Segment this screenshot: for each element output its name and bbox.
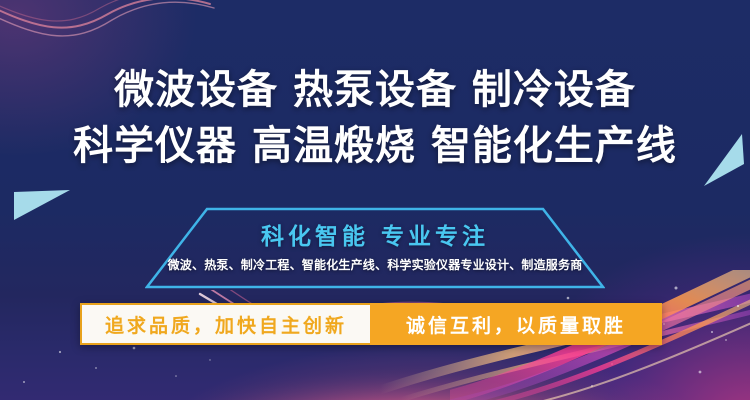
tagline-badge: 科化智能 专业专注 微波、热泵、制冷工程、智能化生产线、科学实验仪器专业设计、制… [145,207,605,289]
slogan-quality: 追求品质，加快自主创新 [80,303,370,345]
tagline-description: 微波、热泵、制冷工程、智能化生产线、科学实验仪器专业设计、制造服务商 [145,256,605,273]
promo-banner: 微波设备 热泵设备 制冷设备 科学仪器 高温煅烧 智能化生产线 科化智能 专业专… [0,0,750,400]
slogan-integrity: 诚信互利，以质量取胜 [370,303,662,345]
headline: 微波设备 热泵设备 制冷设备 科学仪器 高温煅烧 智能化生产线 [0,62,750,174]
triangle-right-icon [14,182,70,220]
headline-line-1: 微波设备 热泵设备 制冷设备 [0,62,750,118]
tagline-text: 科化智能 专业专注 [145,217,605,251]
slogan-bar-group: 追求品质，加快自主创新 诚信互利，以质量取胜 [80,303,662,345]
headline-line-2: 科学仪器 高温煅烧 智能化生产线 [0,118,750,174]
